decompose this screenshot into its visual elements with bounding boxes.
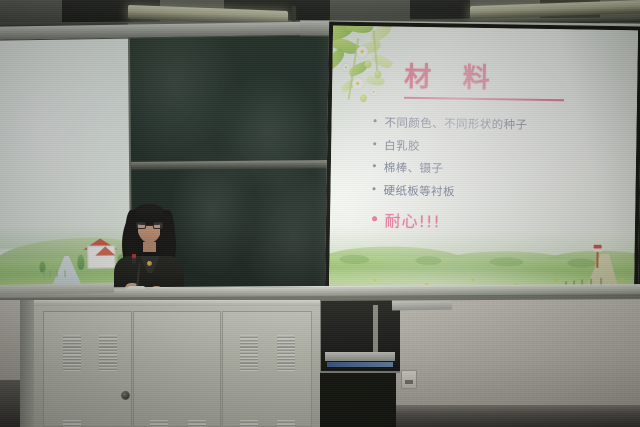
glasses-lens — [136, 222, 146, 229]
ventilation-slots — [240, 335, 258, 371]
bullet-dot-icon — [374, 119, 377, 122]
power-socket[interactable] — [401, 370, 417, 389]
cabinet-door[interactable] — [222, 311, 312, 427]
bullet-text: 硬纸板等衬板 — [383, 182, 455, 199]
ventilation-slots — [63, 420, 81, 427]
flower-dot-icon — [471, 278, 474, 281]
bush-icon — [567, 258, 595, 267]
necklace — [147, 261, 152, 266]
bullet-text: 不同颜色、不同形状的种子 — [384, 114, 527, 132]
fence-post — [44, 270, 45, 277]
flower-dot-icon — [555, 279, 558, 282]
flower-icon — [370, 88, 377, 95]
bullet-dot-icon — [373, 187, 376, 190]
ventilation-slots — [150, 420, 168, 427]
cabinet-door[interactable] — [133, 311, 221, 427]
slide-title-block: 材 料 — [404, 64, 594, 94]
fence-post — [65, 270, 66, 277]
bullet-dot-icon — [372, 216, 377, 221]
socket-slot-icon — [405, 380, 413, 384]
neck — [143, 242, 156, 252]
glasses-bridge — [146, 225, 153, 226]
tree-icon — [39, 261, 45, 272]
list-item: 棉棒、镊子 — [373, 159, 631, 179]
cabinet-top-rim — [34, 300, 320, 306]
flower-icon — [342, 64, 349, 71]
bay-rail — [373, 305, 378, 357]
glasses-lens — [153, 222, 163, 229]
ventilation-slots — [277, 335, 295, 371]
cabinet-lock[interactable] — [121, 391, 130, 400]
bay-shelf — [325, 352, 395, 361]
bullet-dot-icon — [373, 164, 376, 167]
presentation-slide: 材 料 不同颜色、不同形状的种子 白乳胶 棉棒、镊子 — [329, 26, 638, 295]
ventilation-slots — [240, 420, 258, 427]
bullet-dot-icon — [373, 142, 376, 145]
bullet-text: 棉棒、镊子 — [384, 159, 444, 176]
main-projection-screen: 材 料 不同颜色、不同形状的种子 白乳胶 棉棒、镊子 — [325, 22, 640, 299]
presenter — [116, 198, 182, 298]
bud-icon — [360, 94, 367, 102]
house-roof-icon — [95, 246, 115, 255]
wall-skirting — [396, 405, 640, 427]
signpost-top-icon — [594, 245, 602, 252]
microphone-indicator-icon — [132, 254, 136, 258]
flower-icon — [352, 78, 363, 89]
glasses-icon — [136, 222, 163, 229]
equipment-bay[interactable] — [319, 301, 400, 373]
tree-icon — [77, 255, 84, 270]
list-item: 不同颜色、不同形状的种子 — [373, 114, 631, 134]
bud-icon — [374, 70, 381, 78]
ventilation-slots — [188, 420, 206, 427]
flower-dot-icon — [373, 279, 376, 282]
bud-icon — [364, 60, 371, 68]
ventilation-slots — [277, 420, 295, 427]
list-item: 白乳胶 — [373, 137, 631, 157]
bullet-text: 白乳胶 — [384, 137, 420, 154]
list-item: 硬纸板等衬板 — [372, 182, 630, 202]
slide-title: 材 料 — [404, 64, 594, 94]
ventilation-slots — [63, 335, 81, 371]
bay-top-bar — [392, 299, 452, 310]
ventilation-slots — [99, 335, 117, 371]
classroom-photo: 材 料 不同颜色、不同形状的种子 白乳胶 棉棒、镊子 — [0, 0, 640, 427]
bay-equipment — [327, 362, 393, 367]
fence-post — [57, 270, 58, 277]
cabinet-door[interactable] — [43, 311, 132, 427]
bush-icon — [339, 255, 369, 264]
flower-dot-icon — [621, 278, 624, 281]
slide-bullet-list: 不同颜色、不同形状的种子 白乳胶 棉棒、镊子 硬纸板等衬板 耐心!!! — [372, 114, 632, 241]
lower-wall — [396, 296, 640, 427]
flower-icon — [357, 46, 368, 57]
bush-icon — [415, 256, 441, 265]
signpost-icon — [596, 250, 598, 268]
fence-post — [50, 270, 51, 277]
